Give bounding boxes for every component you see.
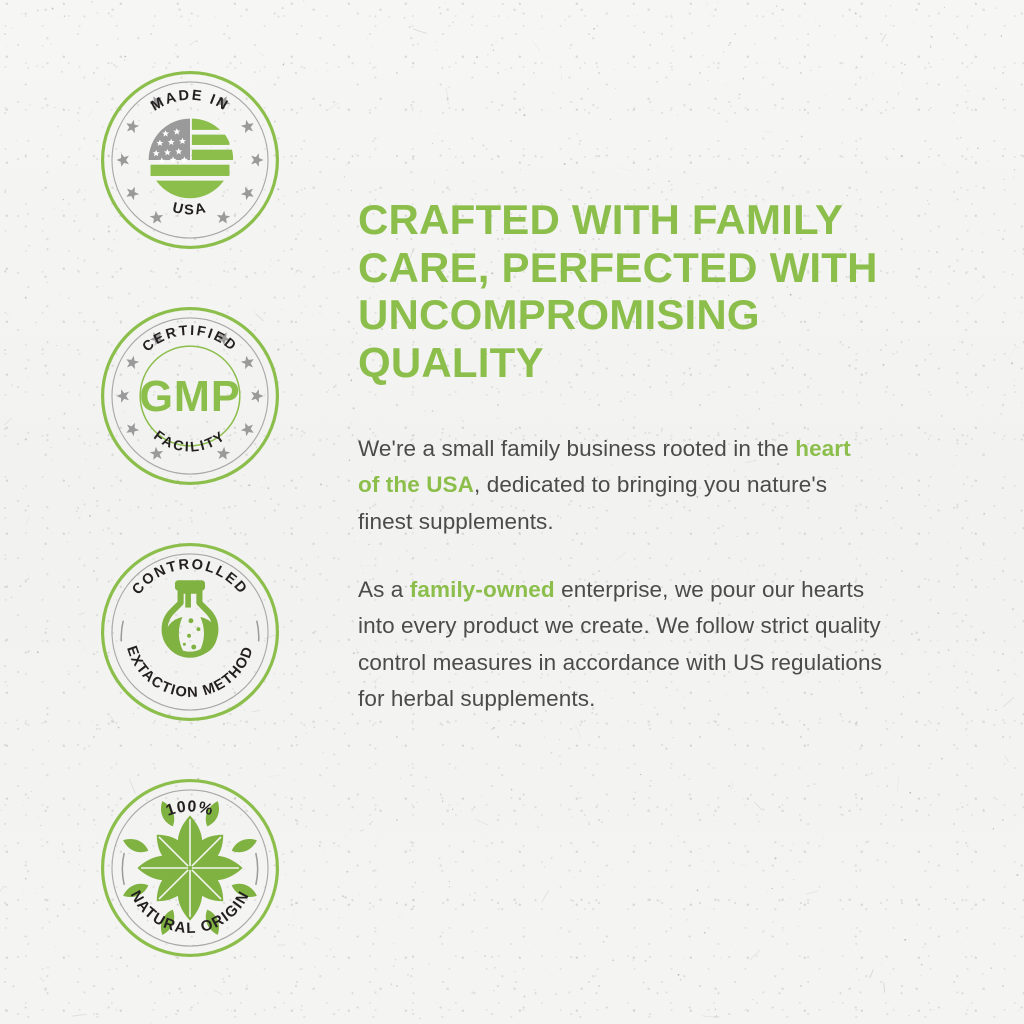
page-title: CRAFTED WITH FAMILY CARE, PERFECTED WITH… <box>358 196 918 387</box>
badge-controlled-extraction-method: CONTROLLED EXTACTION METHOD <box>96 538 284 726</box>
copy-column: CRAFTED WITH FAMILY CARE, PERFECTED WITH… <box>358 196 918 718</box>
decorative-arc-right <box>257 621 259 642</box>
trust-badge-column: MADE IN USA <box>96 66 284 962</box>
badge-made-in-usa: MADE IN USA <box>96 66 284 254</box>
decorative-arc-right <box>256 853 258 885</box>
promo-panel: MADE IN USA <box>0 0 1024 1024</box>
body-text-run: As a <box>358 577 410 602</box>
gmp-seal-icon: GMP <box>139 373 240 421</box>
flask-leaf-icon <box>165 580 217 654</box>
badge-bottom-arc-text: FACILITY <box>151 427 229 455</box>
body-paragraph-1: We're a small family business rooted in … <box>358 431 878 540</box>
body-paragraph-2: As a family-owned enterprise, we pour ou… <box>358 572 888 718</box>
highlighted-phrase: family-owned <box>410 577 555 602</box>
badge-natural-origin: 100% NATURAL ORIGIN <box>96 774 284 962</box>
badge-top-arc-text: MADE IN <box>148 88 231 115</box>
decorative-arc-left <box>122 853 124 885</box>
badge-bottom-arc-text: USA <box>171 200 209 218</box>
decorative-arc-left <box>121 621 123 642</box>
usa-flag-circle-icon <box>149 119 234 199</box>
body-text-run: We're a small family business rooted in … <box>358 436 795 461</box>
badge-gmp-certified-facility: GMP CERTIFIED FACILITY <box>96 302 284 490</box>
